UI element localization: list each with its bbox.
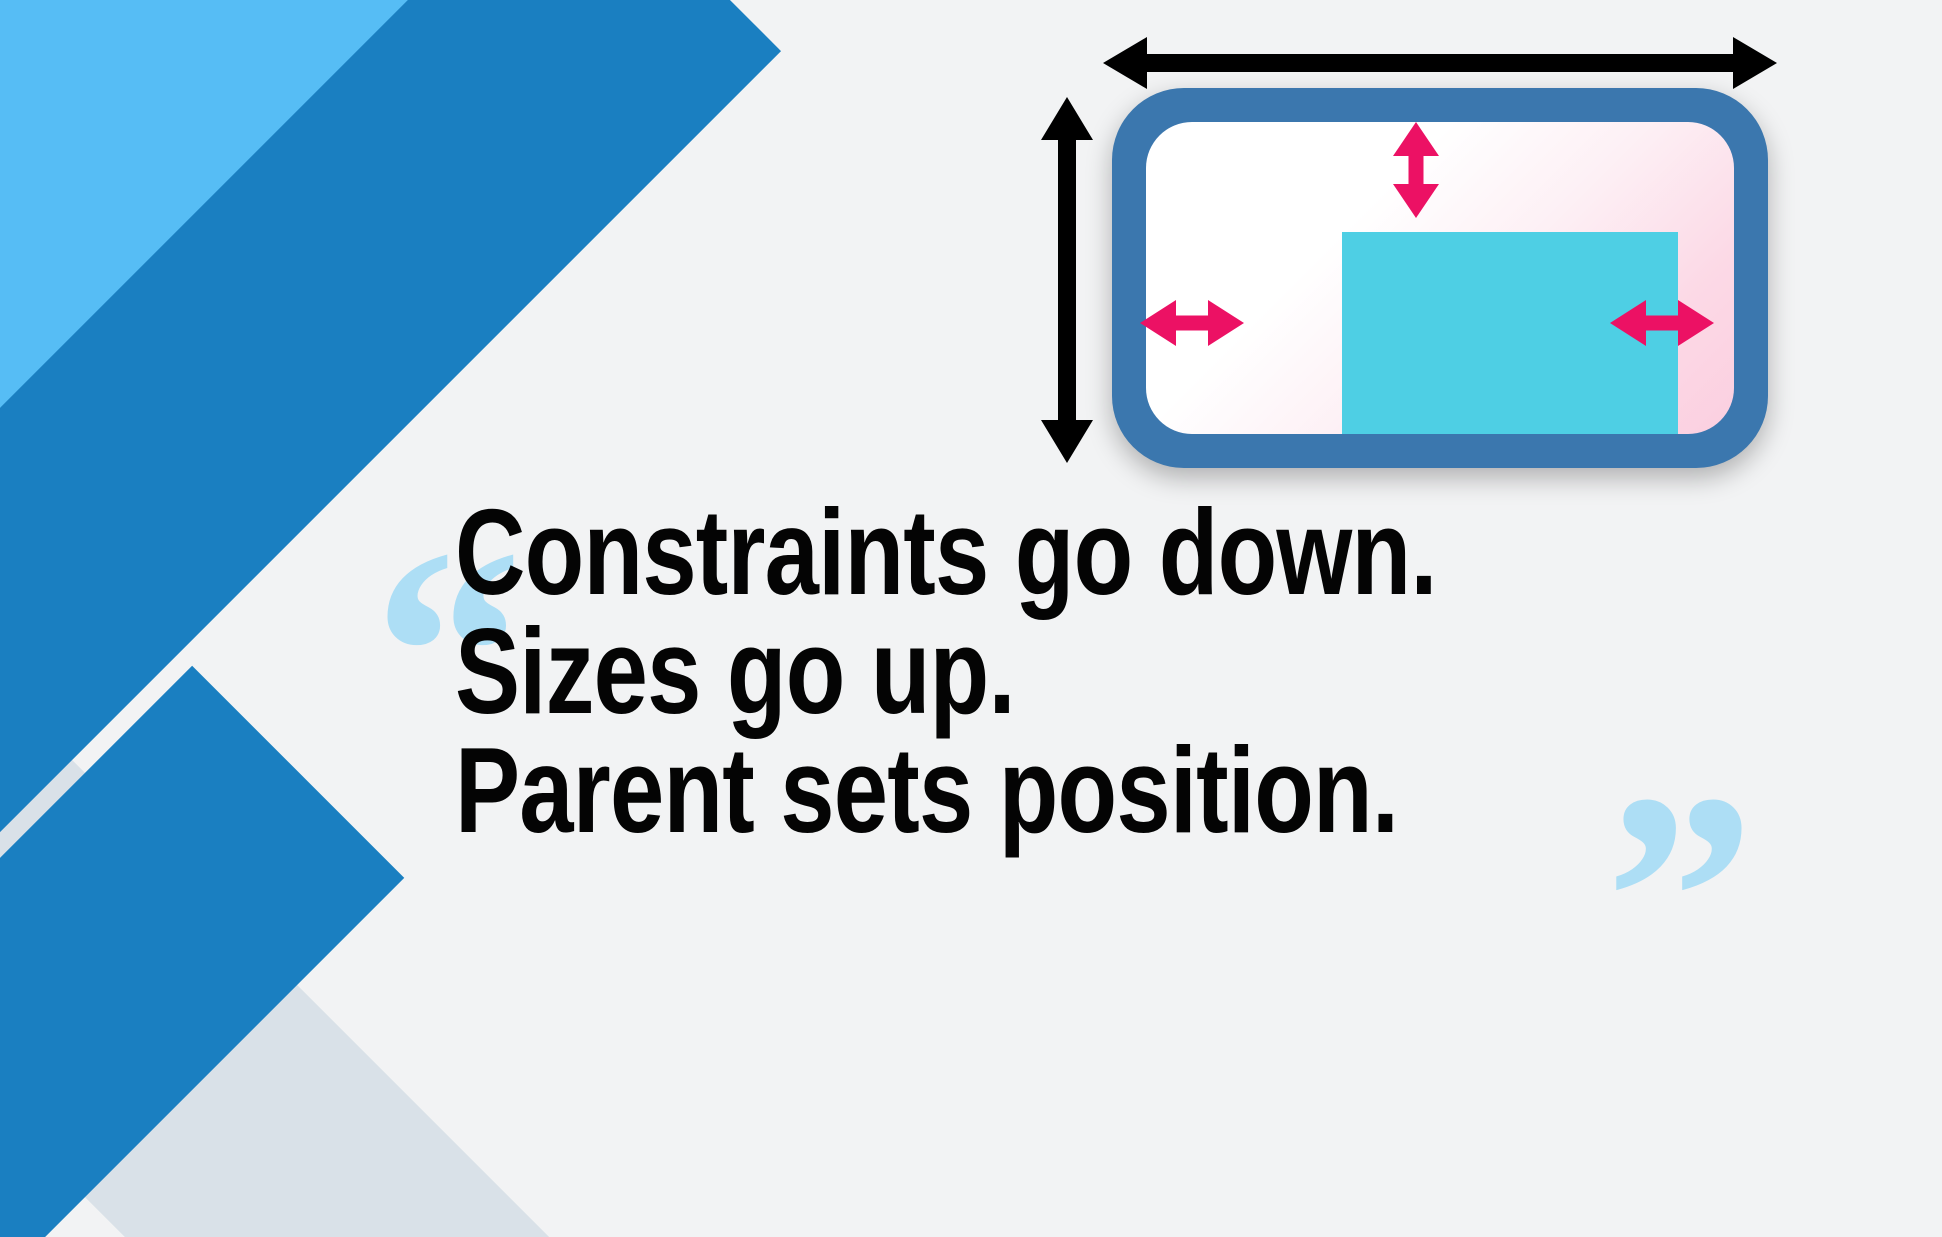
quote-line-3: Parent sets position.: [455, 731, 1623, 850]
quotation-block: “ ” Constraints go down. Sizes go up. Pa…: [455, 493, 1915, 850]
dark-blue-lower-wedge: [0, 666, 404, 1237]
height-measure-arrow-overlay: [1036, 92, 1098, 468]
left-constraint-arrow: [1138, 292, 1246, 354]
quote-line-1: Constraints go down.: [455, 493, 1623, 612]
top-constraint-arrow: [1385, 120, 1447, 220]
right-constraint-arrow: [1608, 292, 1716, 354]
quote-lines: Constraints go down. Sizes go up. Parent…: [455, 493, 1915, 850]
width-measure-arrow-overlay: [1095, 32, 1785, 94]
quote-line-2: Sizes go up.: [455, 612, 1623, 731]
slide-canvas: “ ” Constraints go down. Sizes go up. Pa…: [0, 0, 1942, 1237]
